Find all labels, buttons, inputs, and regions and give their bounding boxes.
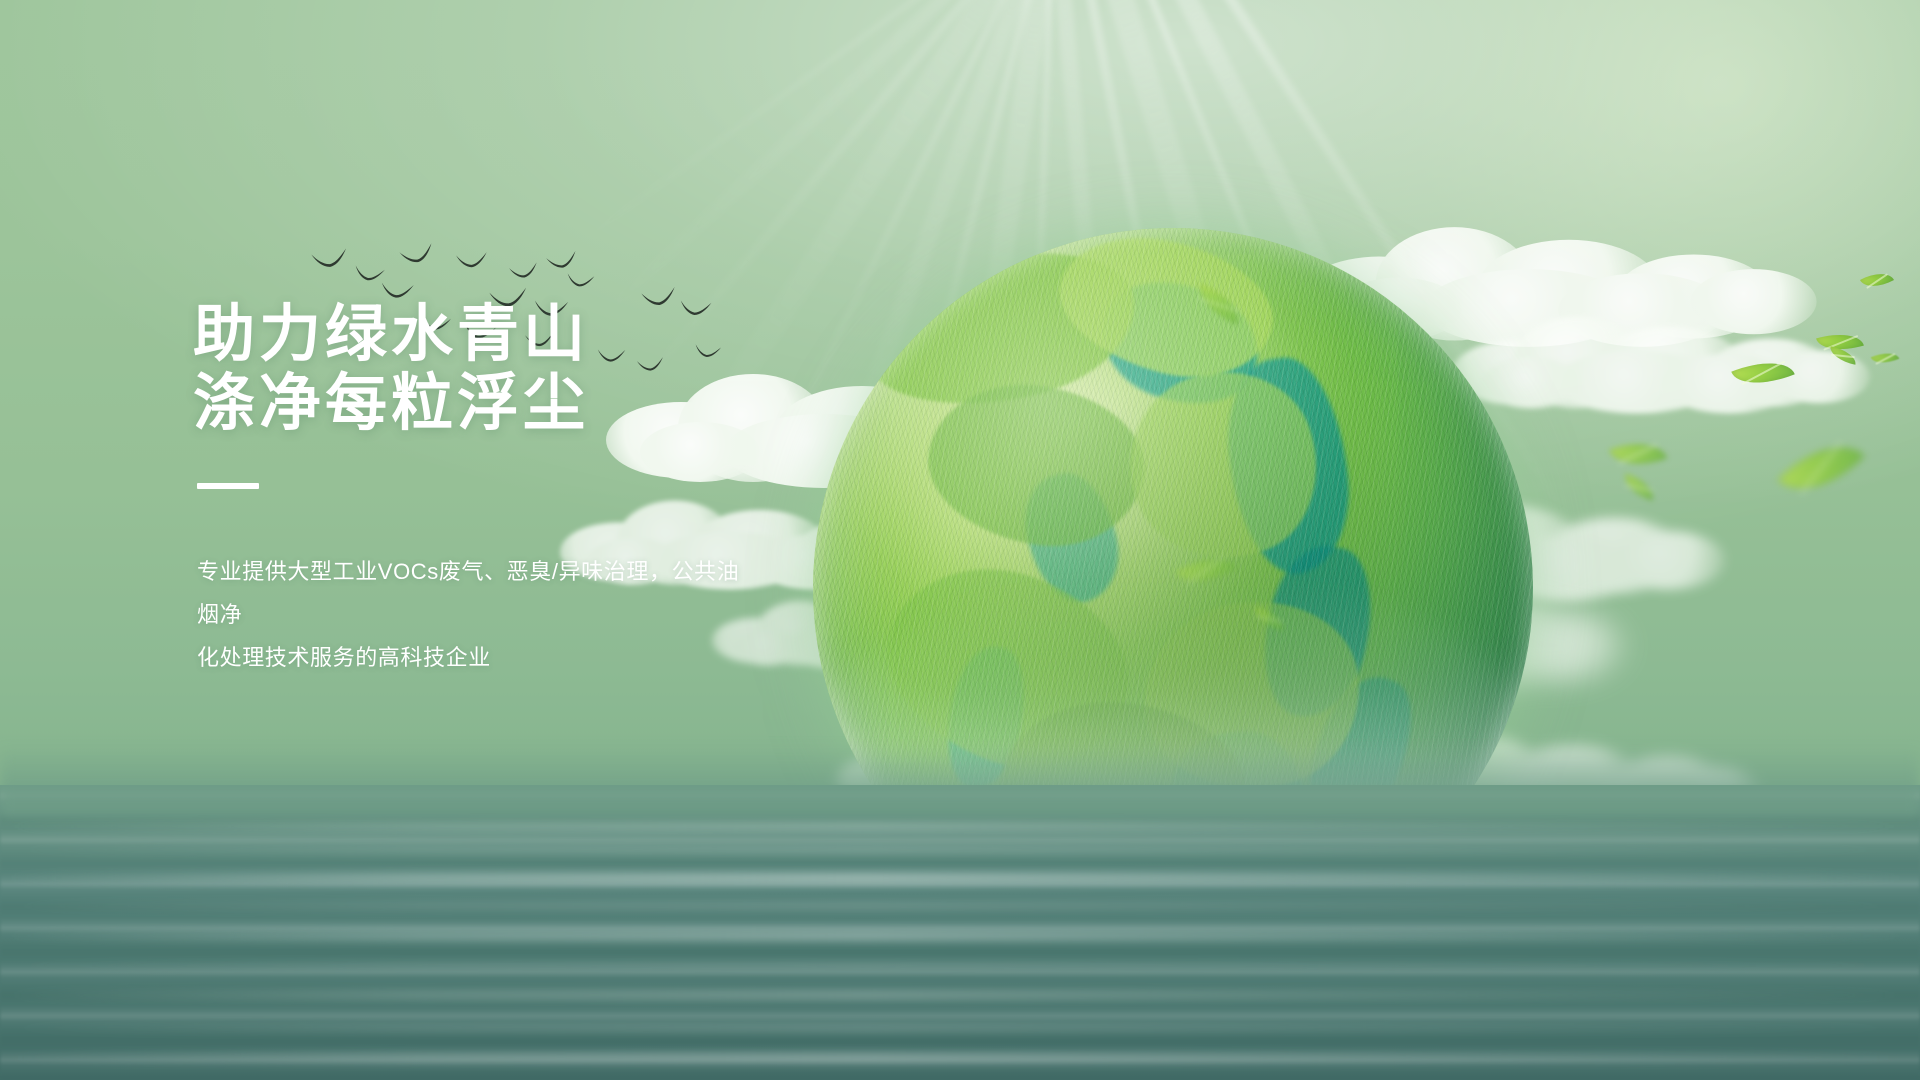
water-ripple-band [0,873,1920,883]
bird-icon [455,252,489,270]
title-divider [197,483,259,489]
bird-icon [379,281,414,300]
water-ripple-band [0,903,1920,909]
page-title: 助力绿水青山 涤净每粒浮尘 [193,300,953,439]
water-horizon-fade [0,745,1920,815]
water-ripple-band [0,963,1920,968]
water-ripple-band [0,991,1920,999]
water-ripple-band [0,823,1920,830]
water-surface [0,785,1920,1080]
hero-banner: 助力绿水青山 涤净每粒浮尘 专业提供大型工业VOCs废气、恶臭/异味治理，公共油… [0,0,1920,1080]
headline-line-2: 涤净每粒浮尘 [193,369,953,438]
water-ripple-band [0,931,1920,940]
banner-subtitle: 专业提供大型工业VOCs废气、恶臭/异味治理，公共油烟净 化处理技术服务的高科技… [197,551,742,680]
water-ripple-band [0,1025,1920,1031]
headline-line-1: 助力绿水青山 [193,300,953,369]
water-ripple-band [0,847,1920,852]
water-ripple-band [0,1053,1920,1062]
subtitle-line-1: 专业提供大型工业VOCs废气、恶臭/异味治理，公共油烟净 [197,551,742,637]
banner-copy: 助力绿水青山 涤净每粒浮尘 专业提供大型工业VOCs废气、恶臭/异味治理，公共油… [193,300,953,680]
subtitle-line-2: 化处理技术服务的高科技企业 [197,637,742,680]
